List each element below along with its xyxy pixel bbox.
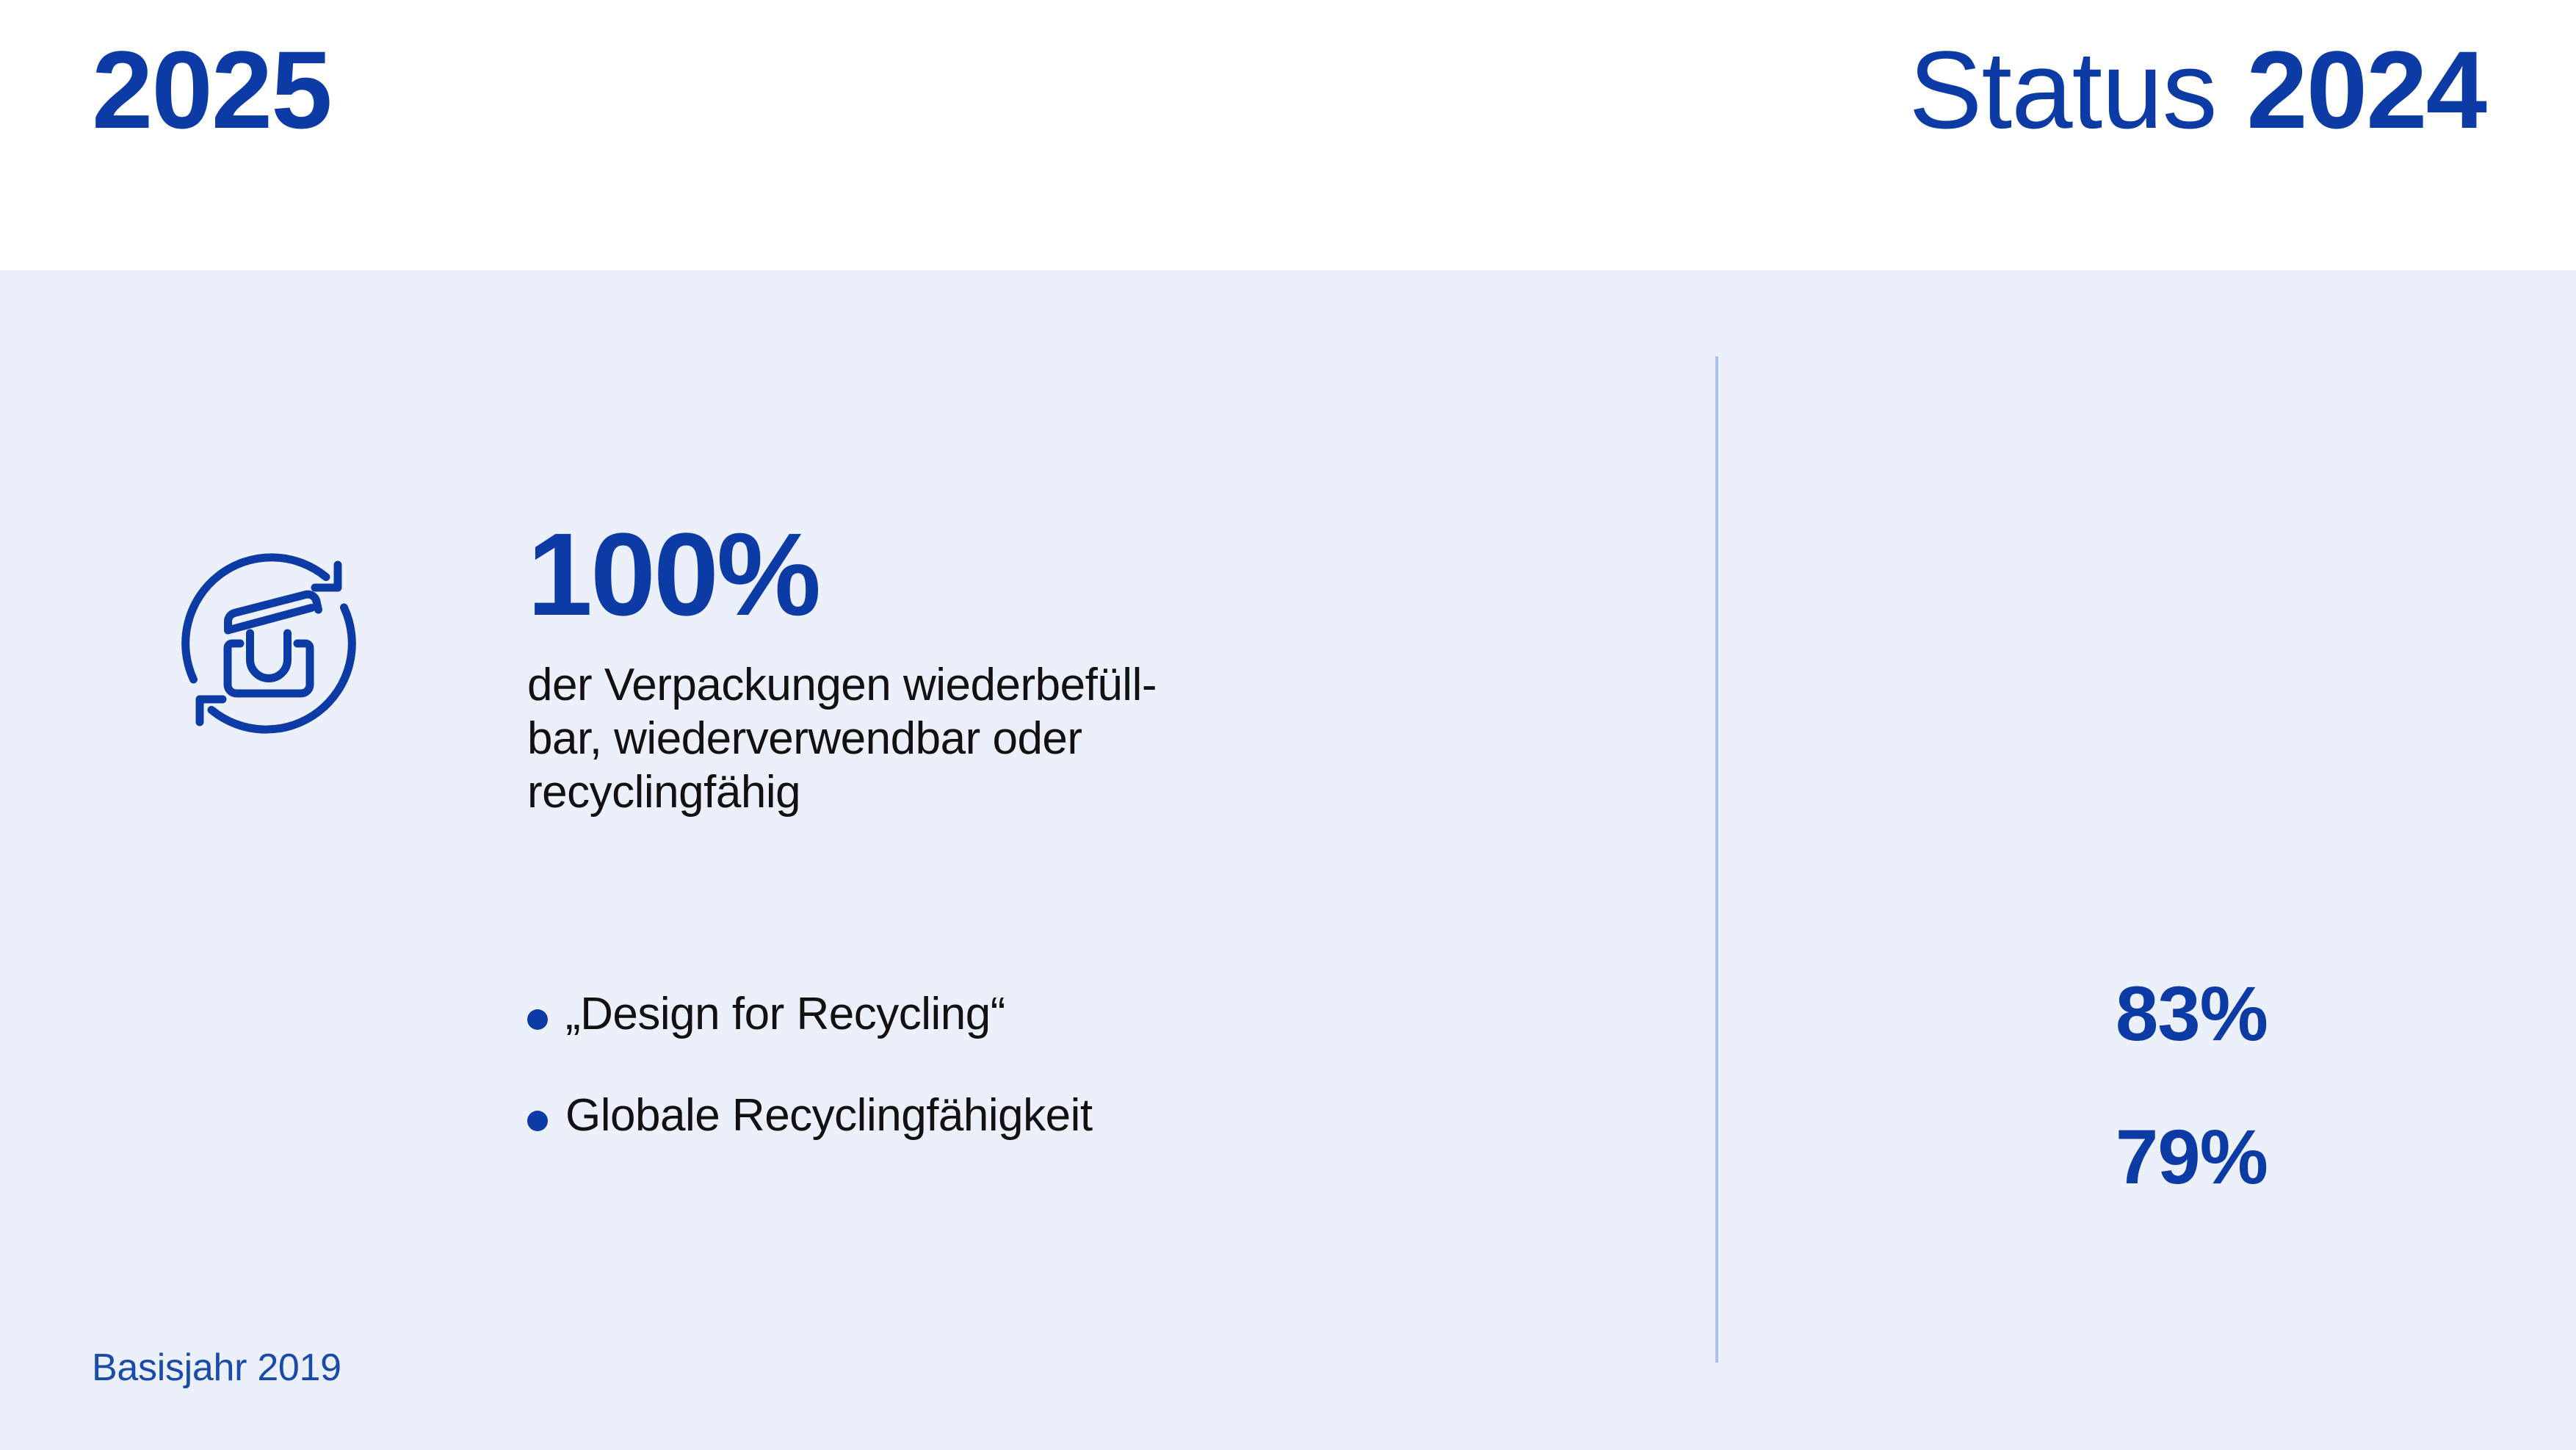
- recycling-container-refresh-icon: [170, 545, 367, 742]
- status-value-column: 83% 79%: [1733, 975, 2268, 1176]
- goal-description: der Verpackungen wiederbefüll- bar, wied…: [527, 658, 1482, 819]
- vertical-divider: [1715, 356, 1718, 1363]
- goal-description-line: bar, wiederverwendbar oder: [527, 712, 1482, 765]
- infographic-slide: 2025 Status 2024: [0, 0, 2576, 1450]
- status-year: 2024: [2246, 28, 2486, 151]
- status-value-global-recyclability: 79%: [1733, 1119, 2268, 1176]
- bullet-dot-icon: [527, 1009, 548, 1030]
- goal-metric-value: 100%: [527, 516, 819, 633]
- content-panel: 100% der Verpackungen wiederbefüll- bar,…: [0, 270, 2576, 1450]
- base-year-footnote: Basisjahr 2019: [92, 1349, 341, 1387]
- target-year-heading: 2025: [92, 35, 331, 145]
- goal-bullet-list: „Design for Recycling“ Globale Recycling…: [527, 989, 1629, 1191]
- bullet-label: „Design for Recycling“: [565, 989, 1005, 1039]
- status-heading: Status 2024: [1909, 35, 2486, 145]
- goal-description-line: recyclingfähig: [527, 765, 1482, 819]
- goal-description-line: der Verpackungen wiederbefüll-: [527, 658, 1482, 712]
- bullet-label: Globale Recyclingfähigkeit: [565, 1090, 1093, 1141]
- status-label: Status: [1909, 28, 2246, 151]
- bullet-dot-icon: [527, 1111, 548, 1131]
- header-band: 2025 Status 2024: [0, 0, 2576, 270]
- list-item: Globale Recyclingfähigkeit: [527, 1090, 1629, 1147]
- status-value-design-for-recycling: 83%: [1733, 975, 2268, 1033]
- list-item: „Design for Recycling“: [527, 989, 1629, 1046]
